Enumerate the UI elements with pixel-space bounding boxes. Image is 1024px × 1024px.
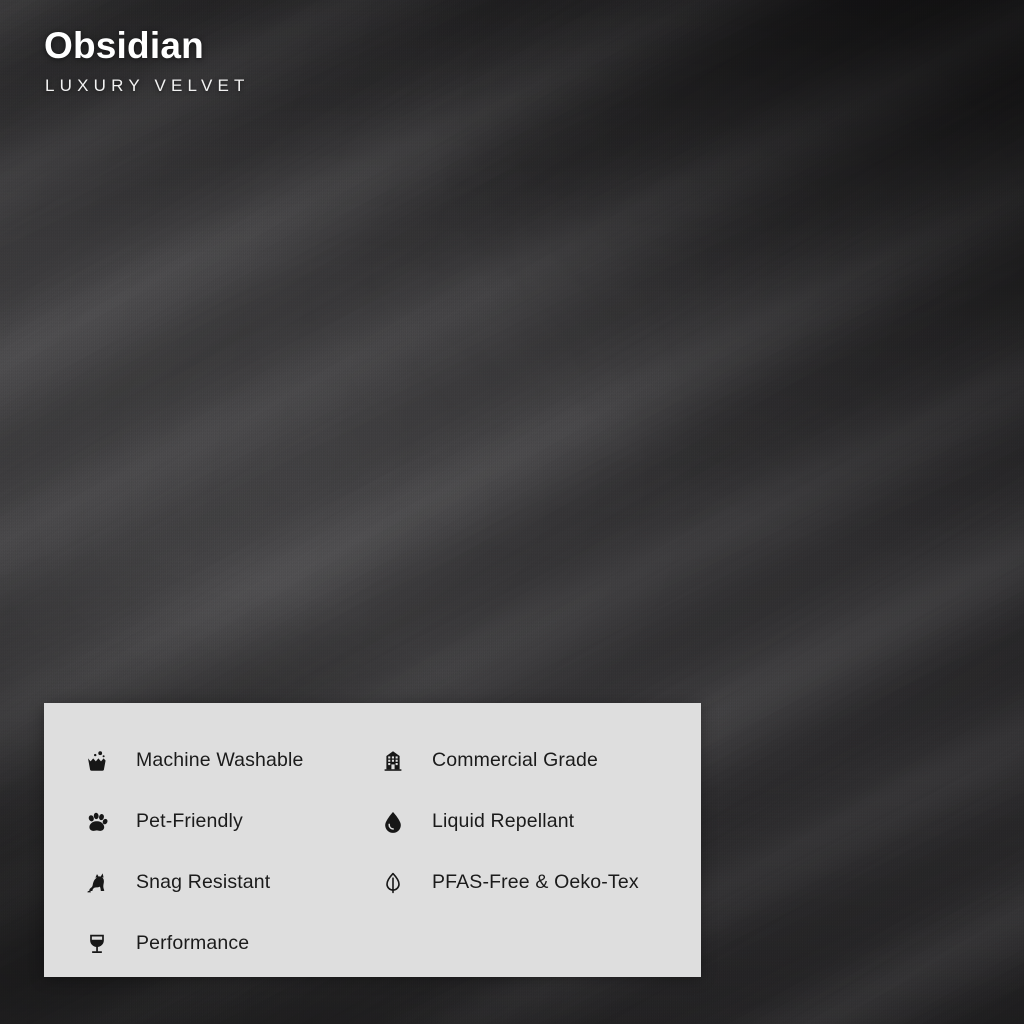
feature-label: Machine Washable — [136, 749, 304, 772]
feature-item-performance: Performance — [84, 913, 344, 974]
product-tagline: LUXURY VELVET — [45, 77, 250, 96]
feature-panel: Machine Washable Pet-Friendly — [44, 703, 701, 977]
leaf-icon — [380, 870, 406, 896]
feature-item-pfas-free-oeko-tex: PFAS-Free & Oeko-Tex — [380, 852, 701, 913]
paw-print-icon — [84, 809, 110, 835]
product-header: Obsidian LUXURY VELVET — [44, 26, 250, 95]
feature-label: Pet-Friendly — [136, 810, 243, 833]
feature-label: Performance — [136, 932, 249, 955]
building-icon — [380, 748, 406, 774]
water-droplet-icon — [380, 809, 406, 835]
product-title: Obsidian — [44, 26, 250, 67]
feature-label: Commercial Grade — [432, 749, 598, 772]
feature-label: Liquid Repellant — [432, 810, 574, 833]
washing-basket-icon — [84, 748, 110, 774]
fabric-swatch-card: Obsidian LUXURY VELVET Machine Washable — [0, 0, 1024, 1024]
feature-label: Snag Resistant — [136, 871, 270, 894]
feature-item-snag-resistant: Snag Resistant — [84, 852, 344, 913]
feature-column-right: Commercial Grade Liquid Repellant — [344, 703, 701, 977]
feature-item-liquid-repellant: Liquid Repellant — [380, 791, 701, 852]
cat-icon — [84, 870, 110, 896]
feature-column-left: Machine Washable Pet-Friendly — [44, 703, 344, 977]
feature-item-pet-friendly: Pet-Friendly — [84, 791, 344, 852]
wine-glass-icon — [84, 931, 110, 957]
feature-item-machine-washable: Machine Washable — [84, 730, 344, 791]
feature-label: PFAS-Free & Oeko-Tex — [432, 871, 639, 894]
feature-item-commercial-grade: Commercial Grade — [380, 730, 701, 791]
